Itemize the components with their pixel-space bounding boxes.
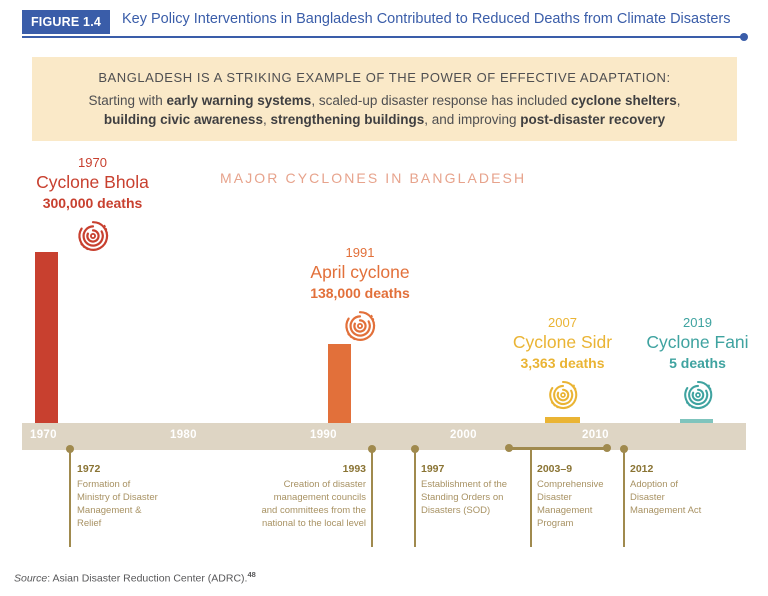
callout-text: , and improving	[424, 112, 520, 127]
header-divider	[22, 36, 744, 38]
policy-connector-line	[371, 449, 373, 547]
policy-span-bar	[509, 447, 607, 450]
callout-bold-strengthening-buildings: strengthening buildings	[270, 112, 424, 127]
policy-label-1997: 1997 Establishment of the Standing Order…	[421, 463, 517, 517]
cyclone-deaths: 5 deaths	[645, 353, 750, 373]
callout-text: Starting with	[88, 93, 166, 108]
cyclone-group-1991: 1991 April cyclone 138,000 deaths	[265, 245, 455, 343]
policy-description: Creation of disaster management councils…	[261, 479, 366, 529]
cyclone-icon	[343, 309, 377, 343]
policy-year: 1993	[258, 463, 366, 476]
callout-bold-post-disaster-recovery: post-disaster recovery	[520, 112, 665, 127]
cyclone-icon	[76, 219, 110, 253]
bar-1991	[328, 344, 351, 423]
callout-box: BANGLADESH IS A STRIKING EXAMPLE OF THE …	[32, 57, 737, 141]
callout-line-2: Starting with early warning systems, sca…	[88, 91, 680, 110]
cyclone-icon	[682, 379, 714, 411]
policy-label-1972: 1972 Formation of Ministry of Disaster M…	[77, 463, 163, 530]
cyclone-deaths: 3,363 deaths	[480, 353, 645, 373]
source-footnote: 48	[247, 570, 255, 579]
policy-dot-icon	[603, 444, 611, 452]
figure-header: FIGURE 1.4 Key Policy Interventions in B…	[22, 10, 746, 40]
cyclone-year: 2007	[480, 315, 645, 331]
source-note: Source: Asian Disaster Reduction Center …	[14, 570, 256, 585]
cyclone-name: Cyclone Fani	[645, 331, 750, 353]
timeline-band: 1970 1980 1990 2000 2010	[22, 423, 746, 450]
policy-dot-icon	[505, 444, 513, 452]
policy-description: Establishment of the Standing Orders on …	[421, 479, 507, 516]
callout-text: , scaled-up disaster response has includ…	[311, 93, 571, 108]
cyclone-year: 2019	[645, 315, 750, 331]
cyclone-deaths: 300,000 deaths	[0, 193, 185, 213]
callout-heading: BANGLADESH IS A STRIKING EXAMPLE OF THE …	[98, 70, 670, 85]
cyclone-icon	[547, 379, 579, 411]
policy-connector-line	[530, 449, 532, 547]
policy-label-2012: 2012 Adoption of Disaster Management Act	[630, 463, 714, 517]
timeline-tick-1990: 1990	[310, 429, 337, 441]
cyclone-year: 1970	[0, 155, 185, 171]
policy-year: 2012	[630, 463, 714, 476]
timeline-tick-1970: 1970	[30, 429, 57, 441]
cyclone-year: 1991	[265, 245, 455, 261]
callout-bold-cyclone-shelters: cyclone shelters	[571, 93, 677, 108]
source-prefix: Source	[14, 573, 47, 585]
callout-text: ,	[677, 93, 681, 108]
cyclone-group-1970: 1970 Cyclone Bhola 300,000 deaths	[0, 155, 185, 253]
cyclone-group-2007: 2007 Cyclone Sidr 3,363 deaths	[480, 315, 645, 411]
cyclone-name: April cyclone	[265, 261, 455, 283]
bar-1970	[35, 252, 58, 423]
page-title: Key Policy Interventions in Bangladesh C…	[122, 11, 731, 27]
policy-description: Adoption of Disaster Management Act	[630, 479, 701, 516]
policy-description: Formation of Ministry of Disaster Manage…	[77, 479, 158, 529]
policy-year: 1997	[421, 463, 517, 476]
section-label-major-cyclones: MAJOR CYCLONES IN BANGLADESH	[220, 170, 526, 186]
policy-connector-line	[69, 449, 71, 547]
callout-bold-civic-awareness: building civic awareness	[104, 112, 263, 127]
callout-line-3: building civic awareness, strengthening …	[104, 110, 665, 129]
cyclone-name: Cyclone Bhola	[0, 171, 185, 193]
header-end-dot-icon	[740, 33, 748, 41]
cyclone-deaths: 138,000 deaths	[265, 283, 455, 303]
figure-badge: FIGURE 1.4	[22, 10, 110, 34]
timeline-tick-2010: 2010	[582, 429, 609, 441]
policy-label-2003-9: 2003–9 Comprehensive Disaster Management…	[537, 463, 625, 530]
policy-description: Comprehensive Disaster Management Progra…	[537, 479, 604, 529]
policy-year: 1972	[77, 463, 163, 476]
cyclone-name: Cyclone Sidr	[480, 331, 645, 353]
timeline-tick-2000: 2000	[450, 429, 477, 441]
callout-bold-early-warning: early warning systems	[166, 93, 311, 108]
source-text: : Asian Disaster Reduction Center (ADRC)…	[47, 573, 247, 585]
policy-connector-line	[623, 449, 625, 547]
timeline-tick-1980: 1980	[170, 429, 197, 441]
policy-label-1993: 1993 Creation of disaster management cou…	[258, 463, 366, 530]
policy-year: 2003–9	[537, 463, 625, 476]
policy-connector-line	[414, 449, 416, 547]
cyclone-group-2019: 2019 Cyclone Fani 5 deaths	[645, 315, 750, 411]
